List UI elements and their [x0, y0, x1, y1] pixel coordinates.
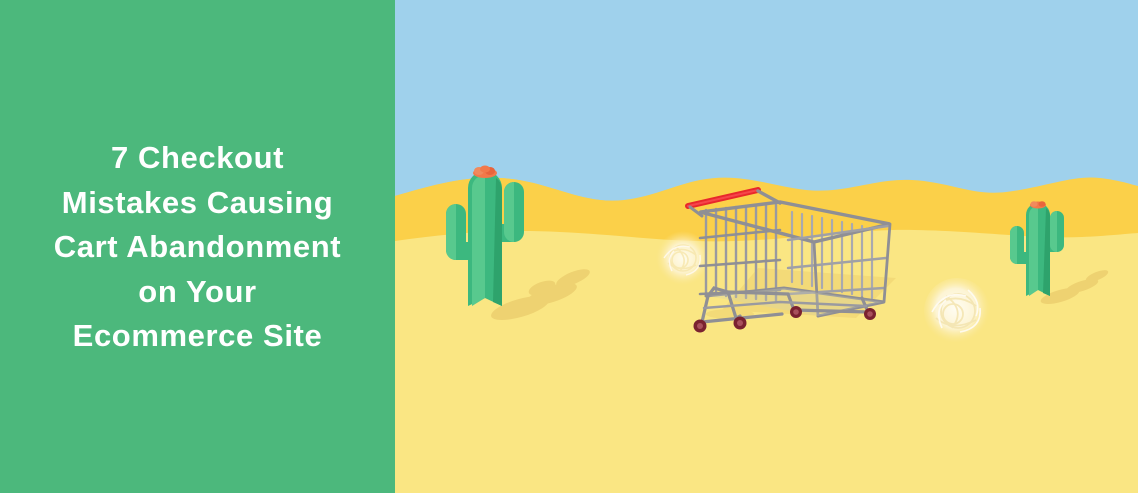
tumbleweed-right: [918, 272, 996, 350]
cactus-small-right: [1005, 200, 1071, 304]
title-line-1: 7 Checkout: [8, 142, 387, 173]
page-title: 7 Checkout Mistakes Causing Cart Abandon…: [0, 129, 395, 365]
blog-header-banner: 7 Checkout Mistakes Causing Cart Abandon…: [0, 0, 1138, 493]
shopping-cart: [684, 176, 900, 336]
cactus-flower-icon: [1030, 201, 1046, 208]
cart-handle: [688, 190, 758, 206]
title-panel: 7 Checkout Mistakes Causing Cart Abandon…: [0, 0, 395, 493]
cactus-large-left: [438, 166, 534, 318]
cactus-flower-icon: [473, 166, 497, 179]
title-line-4: on Your: [8, 276, 387, 307]
title-line-2: Mistakes Causing: [8, 187, 387, 218]
title-line-5: Ecommerce Site: [8, 320, 387, 351]
title-line-3: Cart Abandonment: [8, 231, 387, 262]
